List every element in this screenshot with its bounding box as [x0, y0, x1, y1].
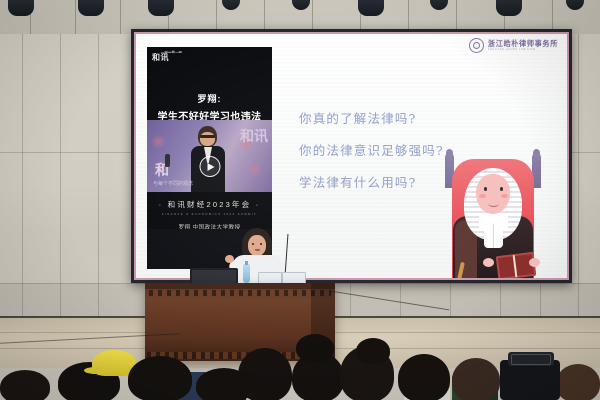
- play-icon[interactable]: [199, 156, 220, 177]
- video-footer: · 和讯财经2023年会 · FINANCE & ECONOMICS 2023 …: [147, 199, 272, 231]
- ceiling-light: [430, 0, 448, 10]
- seal-circle-icon: [469, 38, 484, 53]
- water-bottle: [243, 264, 250, 283]
- question-3: 学法律有什么用吗?: [299, 172, 444, 191]
- ceiling-light: [496, 0, 522, 16]
- audience-head: [356, 338, 390, 364]
- video-title-line1: 罗翔:: [147, 92, 272, 105]
- audience-head: [556, 364, 600, 400]
- ceiling-light: [78, 0, 104, 16]
- ceiling-light: [222, 0, 240, 10]
- ceiling-light: [358, 0, 384, 16]
- slide-content: 浙江皓朴律师事务所 ZHEJIANG HAOPU LAW FIRM ▁▃▂▄▁▃…: [136, 34, 567, 278]
- judge-illustration: [439, 154, 547, 280]
- ceiling-light: [566, 0, 584, 10]
- question-2: 你的法律意识足够强吗?: [299, 140, 444, 159]
- lecture-hall-photo: 浙江皓朴律师事务所 ZHEJIANG HAOPU LAW FIRM ▁▃▂▄▁▃…: [0, 0, 600, 400]
- audience-head: [128, 356, 192, 400]
- video-source-logo: 和讯: [152, 52, 169, 63]
- ceiling-light: [148, 0, 174, 16]
- thumbnail-caption: 与每个不同的观念: [153, 180, 193, 187]
- ceiling-light: [8, 0, 34, 16]
- video-footer-en: FINANCE & ECONOMICS 2023 SUMMIT: [147, 212, 272, 216]
- audience-head: [398, 354, 450, 400]
- video-title: 罗翔: 学生不好好学习也违法: [147, 92, 272, 123]
- firm-name-cn: 浙江皓朴律师事务所: [488, 40, 558, 47]
- question-1: 你真的了解法律吗?: [299, 108, 444, 127]
- audience-head: [238, 348, 292, 400]
- audience-head: [452, 358, 500, 400]
- projection-screen: 浙江皓朴律师事务所 ZHEJIANG HAOPU LAW FIRM ▁▃▂▄▁▃…: [131, 29, 572, 283]
- video-footer-cn: · 和讯财经2023年会 ·: [147, 199, 272, 210]
- firm-name-en: ZHEJIANG HAOPU LAW FIRM: [488, 49, 558, 52]
- audience-head: [0, 370, 50, 400]
- law-firm-logo: 浙江皓朴律师事务所 ZHEJIANG HAOPU LAW FIRM: [469, 38, 558, 53]
- slide-questions: 你真的了解法律吗? 你的法律意识足够强吗? 学法律有什么用吗?: [299, 108, 444, 191]
- audience-head: [296, 334, 334, 362]
- microphone-icon: [165, 154, 170, 167]
- video-camera: [500, 360, 560, 400]
- ceiling-light: [292, 0, 310, 10]
- thumbnail-brand: 和讯: [240, 126, 268, 146]
